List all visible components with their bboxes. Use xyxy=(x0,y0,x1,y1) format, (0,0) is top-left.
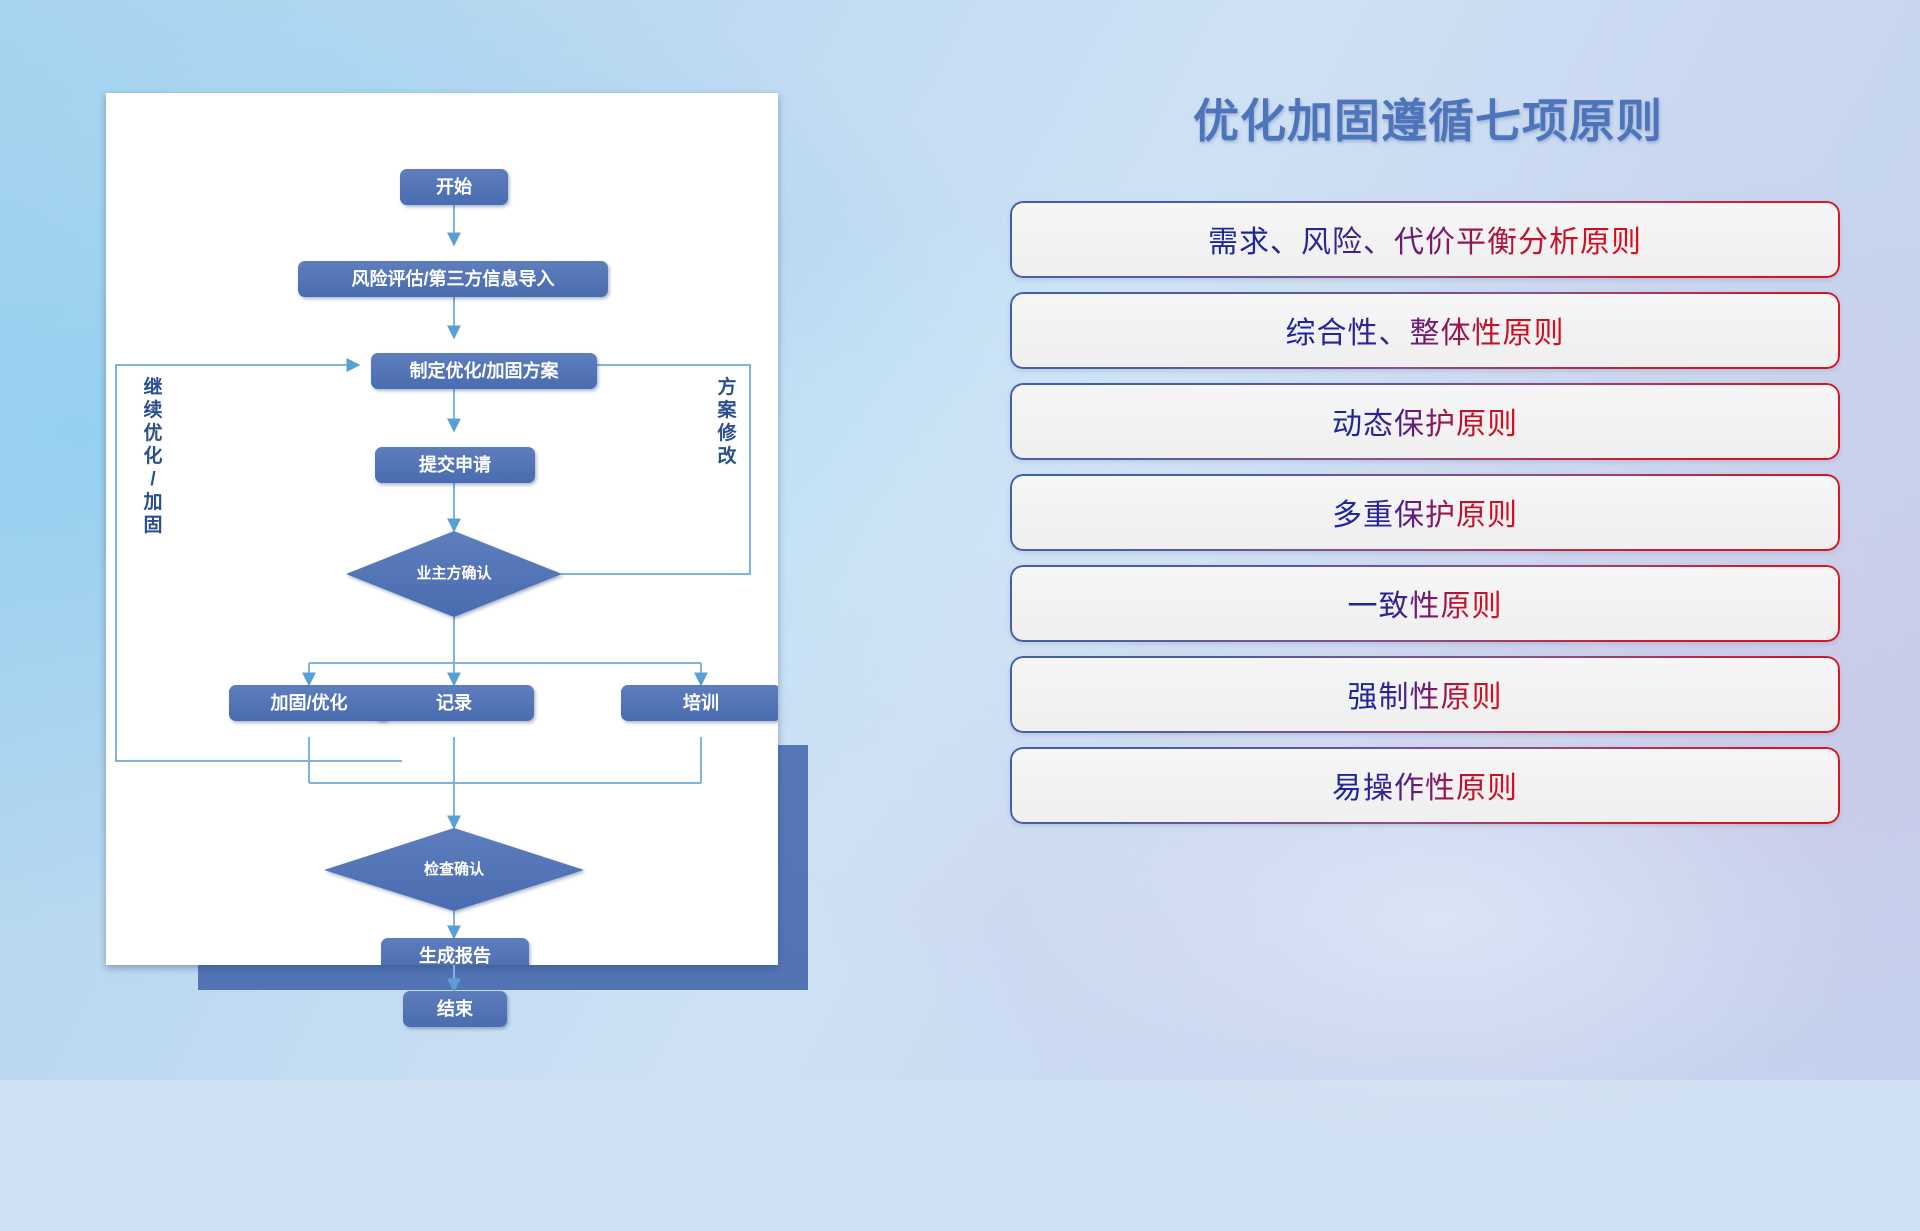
flow-node-owner-confirm-label: 业主方确认 xyxy=(416,564,492,582)
flow-node-reinforce-optimize-label: 加固/优化 xyxy=(269,692,347,713)
principle-item-2[interactable]: 综合性、整体性原则 xyxy=(1010,292,1840,369)
flow-node-generate-report-label: 生成报告 xyxy=(419,945,491,965)
flow-edge-label-plan-revision: 方案修改 xyxy=(716,375,737,467)
principle-item-4[interactable]: 多重保护原则 xyxy=(1010,474,1840,551)
flow-node-start-label: 开始 xyxy=(436,176,472,197)
flow-node-training-label: 培训 xyxy=(683,692,719,713)
principle-label: 一致性原则 xyxy=(1348,581,1503,625)
flow-node-risk-assessment-label: 风险评估/第三方信息导入 xyxy=(352,268,555,289)
principle-item-6[interactable]: 强制性原则 xyxy=(1010,656,1840,733)
flowchart-end-section: 结束 xyxy=(106,965,778,1045)
principle-item-7[interactable]: 易操作性原则 xyxy=(1010,747,1840,824)
flow-node-record-label: 记录 xyxy=(436,693,472,713)
flow-node-inspection-confirm-label: 检查确认 xyxy=(424,860,485,878)
flow-edge-label-continue-optimize: 继续优化/加固 xyxy=(142,375,162,536)
principle-label: 易操作性原则 xyxy=(1332,763,1518,807)
principle-item-5[interactable]: 一致性原则 xyxy=(1010,565,1840,642)
principle-item-1[interactable]: 需求、风险、代价平衡分析原则 xyxy=(1010,201,1840,278)
page-title: 优化加固遵循七项原则 xyxy=(1010,96,1840,147)
flowchart-card: 开始 风险评估/第三方信息导入 制定优化/加固方案 提交申请 业主方确认 加固/… xyxy=(106,93,778,965)
principle-label: 综合性、整体性原则 xyxy=(1286,308,1565,352)
principle-label: 需求、风险、代价平衡分析原则 xyxy=(1208,217,1642,261)
principle-item-3[interactable]: 动态保护原则 xyxy=(1010,383,1840,460)
flowchart-diagram: 开始 风险评估/第三方信息导入 制定优化/加固方案 提交申请 业主方确认 加固/… xyxy=(106,93,778,965)
principle-label: 动态保护原则 xyxy=(1332,399,1518,443)
flow-node-make-plan-label: 制定优化/加固方案 xyxy=(409,360,559,381)
principles-list: 需求、风险、代价平衡分析原则 综合性、整体性原则 动态保护原则 多重保护原则 一… xyxy=(1010,201,1840,824)
principles-panel: 优化加固遵循七项原则 需求、风险、代价平衡分析原则 综合性、整体性原则 动态保护… xyxy=(1010,96,1840,1016)
principle-label: 多重保护原则 xyxy=(1332,490,1518,534)
flow-node-end-label: 结束 xyxy=(437,998,474,1019)
principle-label: 强制性原则 xyxy=(1348,672,1503,716)
flow-node-submit-application-label: 提交申请 xyxy=(419,454,491,475)
